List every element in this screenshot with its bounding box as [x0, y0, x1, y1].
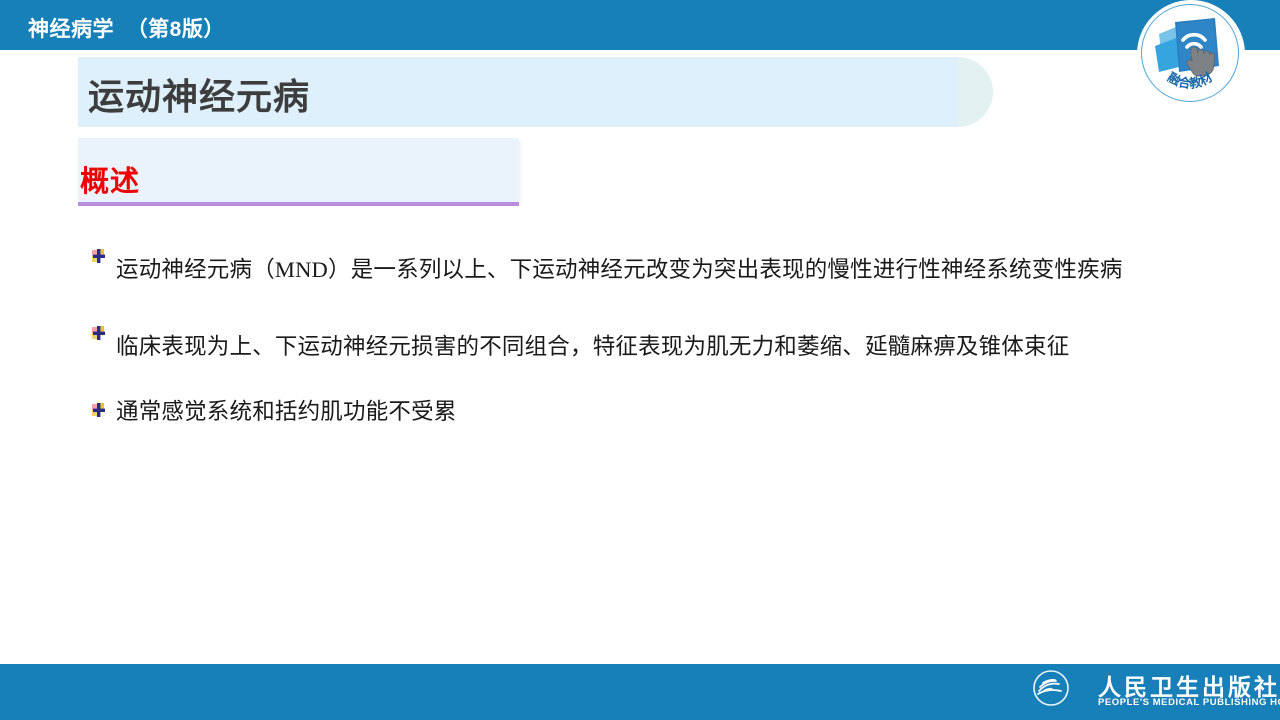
fusion-textbook-badge: 融合教材 — [1139, 2, 1243, 106]
bullet-item-spared: 通常感觉系统和括约肌功能不受累 — [92, 392, 1202, 432]
bullet-text-definition: 运动神经元病（MND）是一系列以上、下运动神经元改变为突出表现的慢性进行性神经系… — [92, 238, 1202, 301]
bullet-item-clinical: 临床表现为上、下运动神经元损害的不同组合，特征表现为肌无力和萎缩、延髓麻痹及锥体… — [92, 315, 1202, 378]
subtitle-underline — [78, 202, 519, 206]
badge-artwork-icon: 融合教材 — [1139, 2, 1243, 106]
bullet-text-clinical: 临床表现为上、下运动神经元损害的不同组合，特征表现为肌无力和萎缩、延髓麻痹及锥体… — [92, 315, 1202, 378]
book-title: 神经病学 （第8版） — [28, 13, 225, 43]
badge-arc-label: 融合教材 — [1165, 69, 1215, 91]
bullet-text-spared: 通常感觉系统和括约肌功能不受累 — [92, 392, 1202, 432]
section-heading: 概述 — [80, 158, 140, 200]
colored-cross-bullet-icon — [92, 326, 106, 340]
publisher-name-en: PEOPLE'S MEDICAL PUBLISHING HOUSE — [1098, 697, 1280, 708]
colored-cross-bullet-icon — [92, 249, 106, 263]
colored-cross-bullet-icon — [92, 403, 106, 417]
page-title: 运动神经元病 — [88, 68, 310, 120]
slide-canvas: 神经病学 （第8版） — [0, 0, 1280, 720]
subtitle-box — [78, 138, 519, 202]
bullet-item-definition: 运动神经元病（MND）是一系列以上、下运动神经元改变为突出表现的慢性进行性神经系… — [92, 238, 1202, 301]
content-body: 运动神经元病（MND）是一系列以上、下运动神经元改变为突出表现的慢性进行性神经系… — [92, 238, 1202, 446]
